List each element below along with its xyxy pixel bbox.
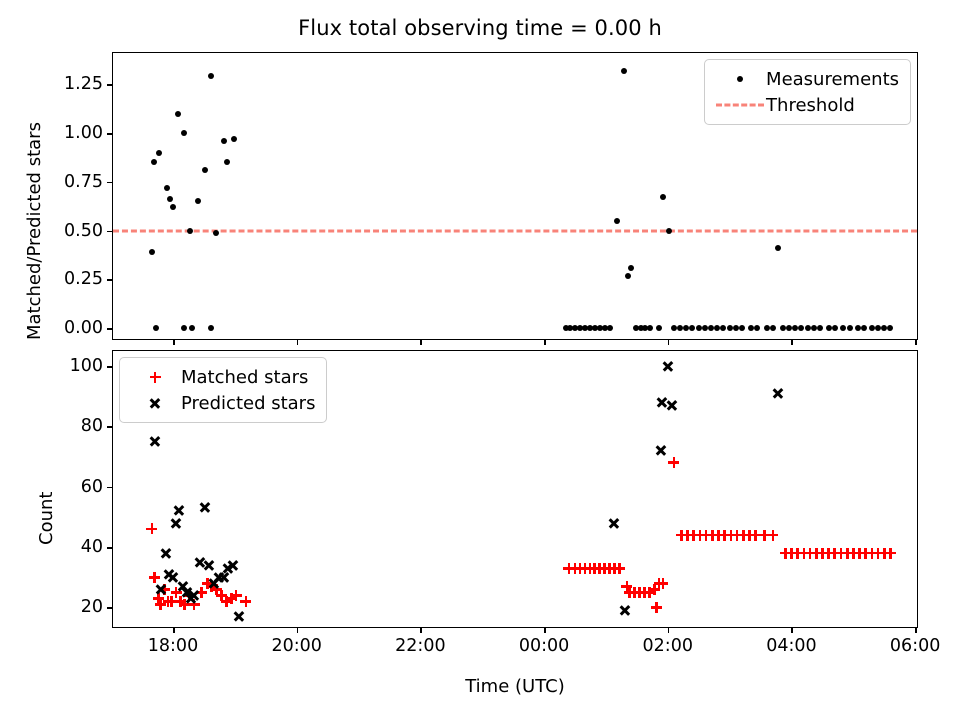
matplotlib-figure: Flux total observing time = 0.00 h Measu… (0, 0, 960, 720)
data-point-dot (764, 325, 770, 331)
data-point-dot (660, 194, 666, 200)
data-point-dot (714, 325, 720, 331)
data-point-dot (181, 325, 187, 331)
data-point-dot (153, 325, 159, 331)
data-point-dot (647, 325, 653, 331)
data-point-dot (881, 325, 887, 331)
legend-marker-line-icon (714, 94, 766, 116)
legend-label: Predicted stars (181, 393, 315, 414)
page-title: Flux total observing time = 0.00 h (0, 16, 960, 40)
x-tick-mark (420, 627, 422, 633)
data-point-dot (208, 325, 214, 331)
data-point-dot (689, 325, 695, 331)
legend-label: Matched stars (181, 367, 308, 388)
data-point-dot (656, 325, 662, 331)
data-point-dot (770, 325, 776, 331)
x-tick-label: 04:00 (766, 636, 816, 656)
legend-entry: Threshold (714, 92, 899, 118)
y-tick-label: 60 (81, 477, 103, 497)
data-point-dot (195, 198, 201, 204)
bottom-panel-axes: Matched starsPredicted stars 20406080100… (112, 350, 918, 628)
data-point-dot (702, 325, 708, 331)
x-tick-mark (297, 627, 299, 633)
x-tick-mark (668, 339, 670, 345)
data-point-dot (855, 325, 861, 331)
data-point-dot (840, 325, 846, 331)
data-point-dot (887, 325, 893, 331)
top-panel-axes: MeasurementsThreshold 0.000.250.500.751.… (112, 52, 918, 340)
data-point-dot (733, 325, 739, 331)
x-tick-label: 02:00 (643, 636, 693, 656)
y-tick-label: 1.25 (64, 74, 103, 94)
x-tick-label: 18:00 (148, 636, 198, 656)
data-point-dot (208, 73, 214, 79)
data-point-dot (224, 159, 230, 165)
x-tick-mark (791, 339, 793, 345)
top-panel-legend[interactable]: MeasurementsThreshold (704, 59, 911, 125)
data-point-dot (607, 325, 613, 331)
data-point-dot (708, 325, 714, 331)
data-point-dot (189, 325, 195, 331)
x-tick-label: 00:00 (519, 636, 569, 656)
data-point-dot (621, 68, 627, 74)
data-point-dot (720, 325, 726, 331)
top-panel-ylabel: Matched/Predicted stars (24, 122, 45, 340)
data-point-dot (748, 325, 754, 331)
x-axis-label: Time (UTC) (112, 676, 918, 697)
data-point-dot (625, 273, 631, 279)
x-tick-mark (173, 627, 175, 633)
y-tick-label: 0.50 (64, 221, 103, 241)
data-point-dot (202, 167, 208, 173)
data-point-dot (737, 76, 743, 82)
bottom-panel-ylabel: Count (36, 492, 57, 545)
legend-entry: Matched stars (129, 364, 315, 390)
data-point-dot (213, 230, 219, 236)
x-tick-label: 20:00 (271, 636, 321, 656)
data-point-dot (832, 325, 838, 331)
y-tick-label: 100 (70, 356, 103, 376)
data-point-dot (156, 150, 162, 156)
x-tick-mark (297, 339, 299, 345)
x-tick-mark (791, 627, 793, 633)
data-point-dot (677, 325, 683, 331)
legend-marker-dot-icon (714, 68, 766, 90)
y-tick-label: 0.00 (64, 318, 103, 338)
y-tick-label: 0.75 (64, 172, 103, 192)
data-point-dot (628, 265, 634, 271)
y-tick-mark (107, 607, 113, 609)
dashed-line-icon (716, 104, 764, 107)
data-point-dot (696, 325, 702, 331)
y-tick-mark (107, 487, 113, 489)
data-point-dot (847, 325, 853, 331)
y-tick-mark (107, 182, 113, 184)
threshold-line (113, 229, 917, 232)
data-point-dot (170, 204, 176, 210)
data-point-dot (780, 325, 786, 331)
data-point-dot (614, 218, 620, 224)
data-point-dot (798, 325, 804, 331)
legend-label: Measurements (766, 69, 899, 90)
data-point-dot (231, 136, 237, 142)
data-point-dot (666, 228, 672, 234)
x-tick-mark (915, 339, 917, 345)
x-tick-label: 22:00 (395, 636, 445, 656)
x-tick-mark (544, 339, 546, 345)
y-tick-mark (107, 231, 113, 233)
data-point-dot (727, 325, 733, 331)
data-point-dot (861, 325, 867, 331)
x-tick-mark (668, 627, 670, 633)
data-point-dot (739, 325, 745, 331)
y-tick-mark (107, 84, 113, 86)
x-tick-label: 06:00 (890, 636, 940, 656)
data-point-dot (683, 325, 689, 331)
data-point-dot (786, 325, 792, 331)
data-point-dot (164, 185, 170, 191)
data-point-dot (869, 325, 875, 331)
y-tick-label: 1.00 (64, 123, 103, 143)
y-tick-label: 20 (81, 597, 103, 617)
data-point-dot (149, 249, 155, 255)
data-point-dot (775, 245, 781, 251)
data-point-dot (221, 138, 227, 144)
bottom-panel-legend[interactable]: Matched starsPredicted stars (119, 357, 327, 423)
y-tick-mark (107, 279, 113, 281)
y-tick-label: 80 (81, 416, 103, 436)
data-point-dot (167, 196, 173, 202)
legend-entry: Predicted stars (129, 390, 315, 416)
data-point-dot (151, 159, 157, 165)
legend-marker-cross-icon (129, 392, 181, 414)
data-point-dot (875, 325, 881, 331)
y-tick-mark (107, 328, 113, 330)
x-tick-mark (915, 627, 917, 633)
data-point-dot (792, 325, 798, 331)
data-point-dot (817, 325, 823, 331)
data-point-dot (175, 111, 181, 117)
x-tick-mark (173, 339, 175, 345)
x-tick-mark (420, 339, 422, 345)
y-tick-mark (107, 366, 113, 368)
legend-marker-plus-icon (129, 366, 181, 388)
y-tick-mark (107, 426, 113, 428)
y-tick-mark (107, 547, 113, 549)
y-tick-mark (107, 133, 113, 135)
data-point-dot (187, 228, 193, 234)
data-point-dot (754, 325, 760, 331)
data-point-dot (811, 325, 817, 331)
data-point-dot (671, 325, 677, 331)
y-tick-label: 0.25 (64, 269, 103, 289)
data-point-dot (181, 130, 187, 136)
y-tick-label: 40 (81, 537, 103, 557)
data-point-dot (805, 325, 811, 331)
x-tick-mark (544, 627, 546, 633)
legend-entry: Measurements (714, 66, 899, 92)
legend-label: Threshold (766, 95, 855, 116)
data-point-dot (826, 325, 832, 331)
